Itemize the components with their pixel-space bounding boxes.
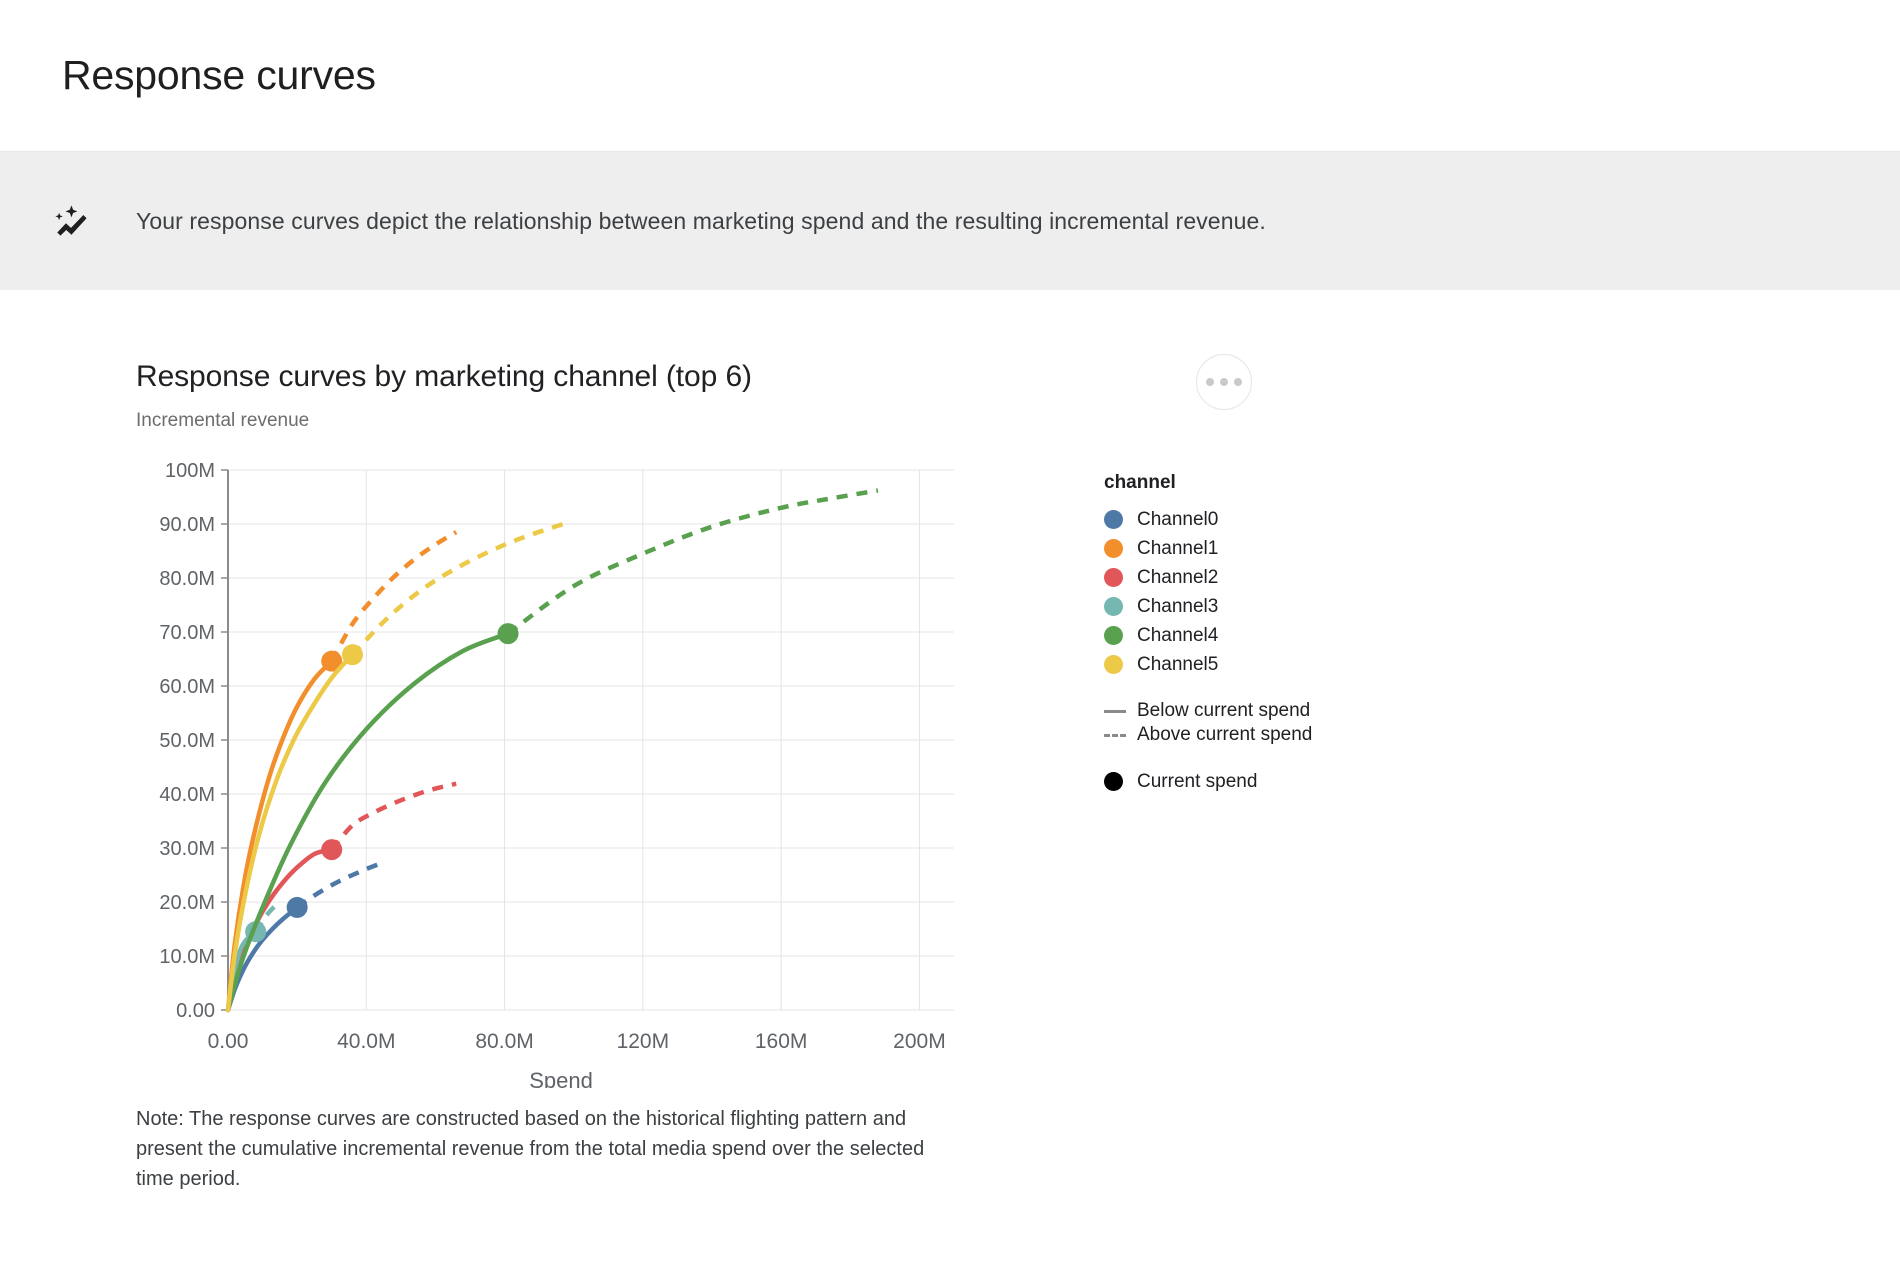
y-tick-label: 20.0M — [159, 892, 215, 914]
legend-style-dashed[interactable]: Above current spend — [1104, 723, 1364, 747]
current-spend-dot-icon — [1104, 772, 1123, 791]
legend-marker-current-spend[interactable]: Current spend — [1104, 767, 1364, 796]
legend-marker-list: Current spend — [1104, 767, 1364, 796]
y-tick-label: 90.0M — [159, 514, 215, 536]
chart-note: Note: The response curves are constructe… — [136, 1104, 956, 1194]
legend-marker-label: Current spend — [1137, 771, 1257, 793]
legend-swatch-icon — [1104, 597, 1123, 616]
y-tick-label: 80.0M — [159, 568, 215, 590]
legend-item-channel5[interactable]: Channel5 — [1104, 650, 1364, 679]
y-tick-label: 50.0M — [159, 730, 215, 752]
solid-line-icon — [1104, 710, 1126, 713]
chart-legend: channel Channel0Channel1Channel2Channel3… — [1104, 472, 1364, 796]
legend-item-label: Channel4 — [1137, 625, 1218, 647]
legend-swatch-icon — [1104, 626, 1123, 645]
legend-item-label: Channel3 — [1137, 596, 1218, 618]
dashed-line-icon — [1104, 734, 1126, 737]
page-header: Response curves — [0, 0, 1900, 152]
legend-swatch-icon — [1104, 568, 1123, 587]
current-spend-marker-channel4[interactable] — [498, 623, 519, 644]
legend-swatch-icon — [1104, 510, 1123, 529]
curve-channel4-below — [228, 634, 508, 1010]
legend-swatch-icon — [1104, 655, 1123, 674]
x-tick-label: 0.00 — [208, 1030, 249, 1053]
legend-item-label: Channel0 — [1137, 509, 1218, 531]
y-tick-label: 0.00 — [176, 1000, 215, 1022]
y-tick-label: 40.0M — [159, 784, 215, 806]
x-tick-label: 80.0M — [475, 1030, 533, 1053]
legend-item-label: Channel2 — [1137, 567, 1218, 589]
y-tick-label: 10.0M — [159, 946, 215, 968]
legend-title: channel — [1104, 472, 1364, 494]
dot-icon — [1220, 378, 1228, 386]
dot-icon — [1206, 378, 1214, 386]
curve-channel5-below — [228, 655, 352, 1010]
current-spend-marker-channel5[interactable] — [342, 644, 363, 665]
legend-item-channel0[interactable]: Channel0 — [1104, 505, 1364, 534]
legend-item-label: Channel1 — [1137, 538, 1218, 560]
sparkle-trend-icon — [44, 194, 98, 248]
legend-style-solid[interactable]: Below current spend — [1104, 699, 1364, 723]
x-axis-label: Spend — [529, 1068, 593, 1088]
legend-style-label: Below current spend — [1137, 700, 1310, 722]
chart-subtitle: Incremental revenue — [136, 410, 1236, 432]
legend-item-channel3[interactable]: Channel3 — [1104, 592, 1364, 621]
response-curves-chart: 0.0010.0M20.0M30.0M40.0M50.0M60.0M70.0M8… — [136, 458, 1316, 1088]
y-tick-label: 60.0M — [159, 676, 215, 698]
legend-spacer — [1104, 747, 1364, 767]
x-tick-label: 200M — [893, 1030, 946, 1053]
legend-item-channel2[interactable]: Channel2 — [1104, 563, 1364, 592]
y-tick-label: 30.0M — [159, 838, 215, 860]
legend-style-list: Below current spendAbove current spend — [1104, 699, 1364, 747]
legend-item-channel1[interactable]: Channel1 — [1104, 534, 1364, 563]
x-tick-label: 40.0M — [337, 1030, 395, 1053]
legend-swatch-icon — [1104, 539, 1123, 558]
info-banner: Your response curves depict the relation… — [0, 152, 1900, 290]
curve-channel0-above — [297, 864, 380, 908]
page-title: Response curves — [62, 52, 376, 99]
x-tick-label: 120M — [617, 1030, 670, 1053]
y-tick-label: 100M — [165, 460, 215, 482]
legend-item-label: Channel5 — [1137, 654, 1218, 676]
legend-spacer — [1104, 679, 1364, 699]
curve-channel1-above — [332, 532, 456, 661]
x-tick-label: 160M — [755, 1030, 808, 1053]
banner-text: Your response curves depict the relation… — [136, 208, 1266, 235]
legend-item-channel4[interactable]: Channel4 — [1104, 621, 1364, 650]
dot-icon — [1234, 378, 1242, 386]
chart-card-header: Response curves by marketing channel (to… — [136, 360, 1236, 432]
legend-style-label: Above current spend — [1137, 724, 1312, 746]
chart-title: Response curves by marketing channel (to… — [136, 360, 1236, 394]
current-spend-marker-channel0[interactable] — [287, 897, 308, 918]
current-spend-marker-channel2[interactable] — [321, 839, 342, 860]
more-options-button[interactable] — [1196, 354, 1252, 410]
y-tick-label: 70.0M — [159, 622, 215, 644]
main-content: Response curves by marketing channel (to… — [0, 290, 1900, 1194]
curve-channel4-above — [508, 491, 878, 634]
legend-series-list: Channel0Channel1Channel2Channel3Channel4… — [1104, 505, 1364, 679]
